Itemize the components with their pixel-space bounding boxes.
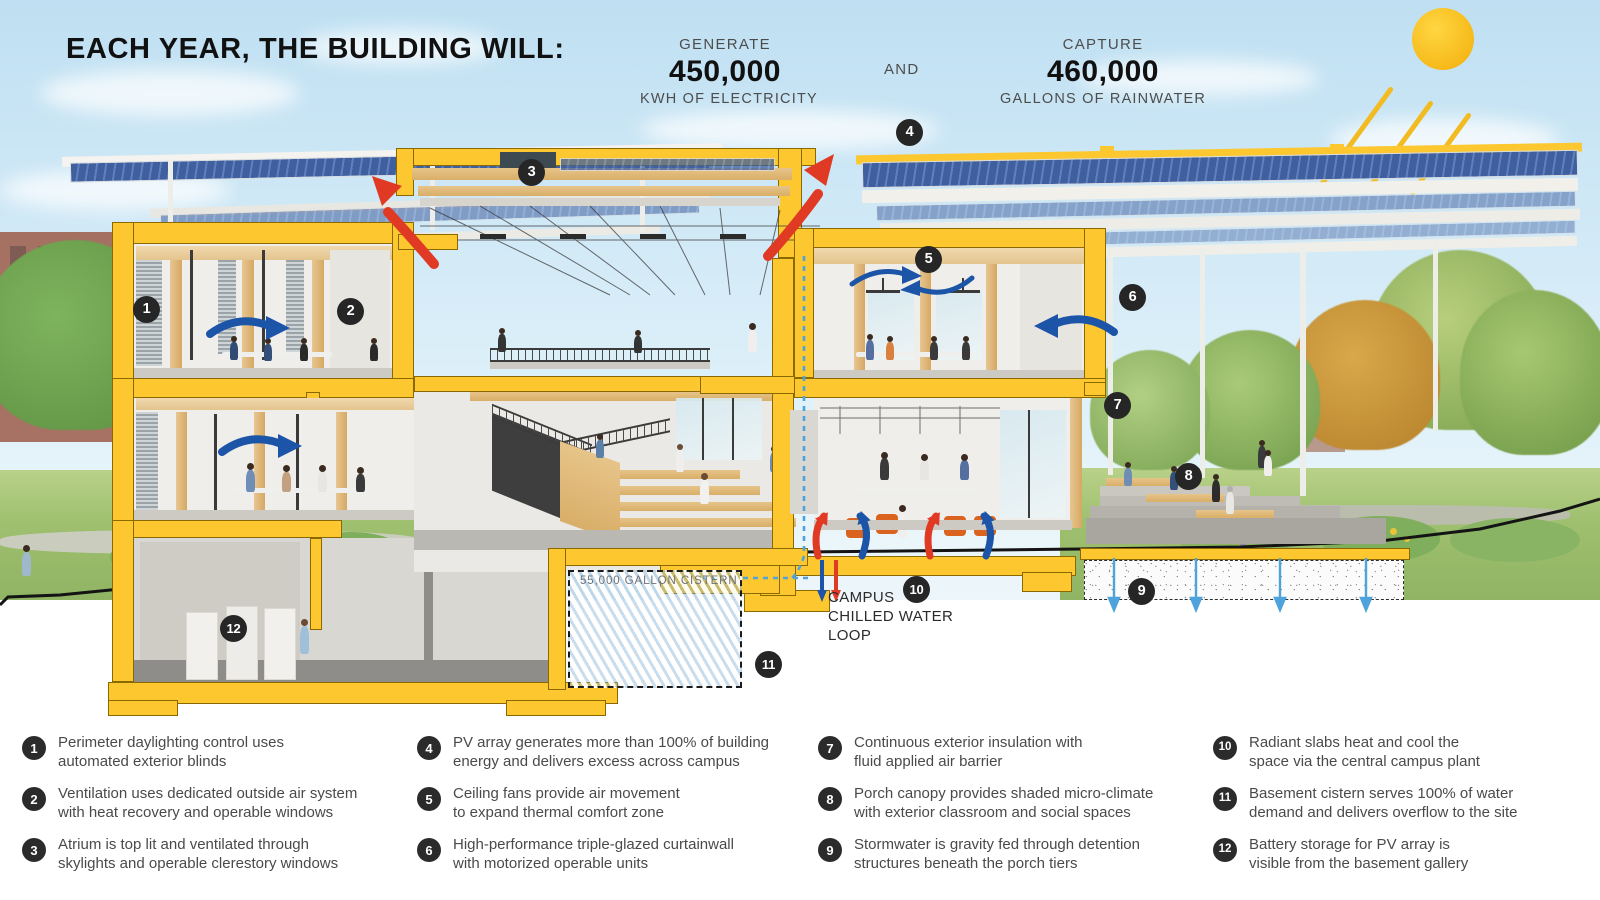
person-figure — [960, 460, 969, 480]
legend-text-12: Battery storage for PV array is visible … — [1249, 836, 1468, 872]
legend-item[interactable]: 11 Basement cistern serves 100% of water… — [1213, 785, 1593, 822]
window-mullion — [702, 398, 704, 460]
person-figure — [1226, 492, 1234, 514]
legend-badge-6: 6 — [417, 838, 441, 862]
tiered-seating-step — [600, 470, 740, 479]
structure-beam-yellow — [1084, 382, 1106, 396]
page-title: EACH YEAR, THE BUILDING WILL: — [66, 33, 565, 66]
wood-column — [176, 412, 187, 516]
person-figure — [930, 342, 938, 360]
legend-badge-7: 7 — [818, 736, 842, 760]
person-figure — [371, 338, 377, 344]
person-figure — [962, 342, 970, 360]
legend-text-3: Atrium is top lit and ventilated through… — [58, 836, 338, 872]
callout-badge-5[interactable]: 5 — [915, 246, 942, 273]
person-figure — [264, 344, 272, 361]
legend-text-9: Stormwater is gravity fed through detent… — [854, 836, 1140, 872]
person-figure — [748, 330, 757, 352]
structure-column-yellow — [112, 520, 134, 682]
legend: 1 Perimeter daylighting control uses aut… — [0, 726, 1600, 900]
wood-column — [336, 412, 347, 516]
stat-value: 460,000 — [1000, 53, 1206, 91]
legend-text-7: Continuous exterior insulation with flui… — [854, 734, 1082, 770]
tiered-seating-step — [600, 502, 778, 511]
stat-caption: CAPTURE — [1000, 36, 1206, 53]
canopy-tab — [1330, 144, 1344, 151]
legend-item[interactable]: 7 Continuous exterior insulation with fl… — [818, 734, 1203, 771]
ventilation-arrow-right — [1024, 308, 1120, 342]
person-figure — [963, 336, 969, 342]
roof-wood-beam — [418, 186, 790, 196]
person-figure — [1265, 450, 1271, 456]
person-figure — [282, 472, 291, 492]
callout-badge-7[interactable]: 7 — [1104, 392, 1131, 419]
porch-column — [1108, 250, 1113, 475]
porch-column — [1200, 248, 1205, 478]
tree — [1460, 290, 1600, 455]
structure-beam-yellow — [112, 222, 412, 244]
person-figure — [887, 336, 893, 342]
ventilation-arrow-level2 — [204, 310, 294, 344]
stat-caption: GENERATE — [640, 36, 810, 53]
window-mullion — [190, 250, 193, 360]
person-figure — [931, 336, 937, 342]
structure-column-yellow — [310, 538, 322, 630]
legend-item[interactable]: 4 PV array generates more than 100% of b… — [417, 734, 802, 771]
legend-column-3: 7 Continuous exterior insulation with fl… — [818, 734, 1203, 887]
legend-badge-3: 3 — [22, 838, 46, 862]
callout-badge-1[interactable]: 1 — [133, 296, 160, 323]
person-figure — [749, 323, 756, 330]
foundation-footing — [1022, 572, 1072, 592]
entry-glazing — [676, 398, 762, 460]
structure-column-yellow — [548, 548, 566, 690]
person-figure — [880, 458, 889, 480]
person-figure — [886, 342, 894, 360]
stat-capture: CAPTURE 460,000 GALLONS OF RAINWATER — [1000, 36, 1206, 107]
person-figure — [676, 450, 684, 472]
person-figure — [635, 330, 641, 336]
foundation-footing — [108, 700, 178, 716]
person-figure — [230, 342, 238, 360]
legend-text-6: High-performance triple-glazed curtainwa… — [453, 836, 734, 872]
stat-generate: GENERATE 450,000 KWH OF ELECTRICITY — [640, 36, 810, 107]
person-figure — [357, 467, 364, 474]
person-figure — [597, 434, 603, 440]
bridge-deck — [490, 362, 710, 369]
wood-column — [170, 248, 182, 370]
structure-beam-yellow — [112, 378, 414, 398]
legend-item[interactable]: 12 Battery storage for PV array is visib… — [1213, 836, 1593, 873]
legend-column-2: 4 PV array generates more than 100% of b… — [417, 734, 802, 887]
person-figure — [499, 328, 505, 334]
person-figure — [867, 334, 873, 340]
basement-column — [424, 570, 433, 664]
legend-item[interactable]: 6 High-performance triple-glazed curtain… — [417, 836, 802, 873]
legend-text-2: Ventilation uses dedicated outside air s… — [58, 785, 357, 821]
legend-item[interactable]: 8 Porch canopy provides shaded micro-cli… — [818, 785, 1203, 822]
pv-array-panels — [560, 158, 775, 171]
person-figure — [1213, 474, 1219, 480]
callout-badge-12[interactable]: 12 — [220, 615, 247, 642]
callout-badge-11[interactable]: 11 — [755, 651, 782, 678]
legend-badge-12: 12 — [1213, 838, 1237, 862]
legend-item[interactable]: 3 Atrium is top lit and ventilated throu… — [22, 836, 412, 873]
structure-column-yellow — [112, 222, 134, 382]
person-figure — [920, 460, 929, 480]
legend-item[interactable]: 9 Stormwater is gravity fed through dete… — [818, 836, 1203, 873]
porch-bench — [1196, 510, 1274, 518]
legend-text-5: Ceiling fans provide air movement to exp… — [453, 785, 680, 821]
structure-slab-yellow — [548, 548, 808, 566]
legend-badge-4: 4 — [417, 736, 441, 760]
person-figure — [1259, 440, 1265, 446]
atrium-floor — [414, 530, 794, 550]
stat-unit: GALLONS OF RAINWATER — [1000, 91, 1206, 107]
person-figure — [318, 472, 327, 492]
porch-column — [1433, 240, 1438, 430]
ceiling-fan-circulation-arrows — [842, 262, 982, 298]
person-figure — [301, 338, 307, 344]
cloud — [40, 70, 300, 116]
building-section-illustration: 55,000 GALLON CISTERN CAMPUS CHILLED WAT… — [0, 0, 1600, 730]
person-figure — [1212, 480, 1220, 502]
legend-item[interactable]: 10 Radiant slabs heat and cool the space… — [1213, 734, 1593, 771]
callout-badge-10[interactable]: 10 — [903, 576, 930, 603]
porch-paving — [1086, 518, 1386, 544]
legend-item[interactable]: 1 Perimeter daylighting control uses aut… — [22, 734, 412, 771]
floor-plate — [134, 368, 392, 378]
person-figure — [677, 444, 683, 450]
curtainwall-glazing — [936, 290, 982, 360]
person-figure — [634, 336, 642, 353]
wood-column — [986, 264, 997, 372]
legend-item[interactable]: 5 Ceiling fans provide air movement to e… — [417, 785, 802, 822]
sun-icon — [1412, 8, 1474, 70]
legend-badge-5: 5 — [417, 787, 441, 811]
battery-unit — [186, 612, 218, 680]
person-figure — [300, 626, 309, 654]
campus-chilled-water-loop-label: CAMPUS CHILLED WATER LOOP — [828, 588, 953, 645]
structure-column-yellow — [112, 378, 134, 528]
callout-badge-8[interactable]: 8 — [1175, 463, 1202, 490]
person-figure — [1124, 468, 1132, 486]
person-figure — [498, 334, 506, 352]
canopy-tab — [1100, 146, 1114, 153]
stack-effect-arrow-left — [368, 160, 458, 270]
foundation-footing — [506, 700, 606, 716]
legend-text-8: Porch canopy provides shaded micro-clima… — [854, 785, 1153, 821]
legend-text-4: PV array generates more than 100% of bui… — [453, 734, 769, 770]
cistern-label: 55,000 GALLON CISTERN — [580, 575, 738, 587]
person-figure — [866, 340, 874, 360]
radiant-slab-arrows — [800, 498, 1040, 560]
legend-column-4: 10 Radiant slabs heat and cool the space… — [1213, 734, 1593, 887]
person-figure — [596, 440, 604, 458]
battery-unit — [264, 608, 296, 680]
stat-value: 450,000 — [640, 53, 810, 91]
legend-text-10: Radiant slabs heat and cool the space vi… — [1249, 734, 1480, 770]
furniture-table — [222, 352, 332, 357]
exterior-blinds — [136, 412, 158, 510]
callout-badge-2[interactable]: 2 — [337, 298, 364, 325]
callout-badge-6[interactable]: 6 — [1119, 284, 1146, 311]
cistern — [568, 570, 742, 688]
tiered-seating-step — [600, 486, 760, 495]
callout-badge-3[interactable]: 3 — [518, 159, 545, 186]
stat-conjunction: AND — [884, 61, 920, 78]
person-figure — [283, 465, 290, 472]
stat-unit: KWH OF ELECTRICITY — [640, 91, 810, 107]
legend-text-11: Basement cistern serves 100% of water de… — [1249, 785, 1517, 821]
window-mullion — [732, 398, 734, 460]
legend-text-1: Perimeter daylighting control uses autom… — [58, 734, 284, 770]
person-figure — [701, 473, 708, 480]
bridge-railing[interactable] — [490, 348, 710, 362]
legend-badge-10: 10 — [1213, 736, 1237, 760]
ventilation-arrow-level1 — [216, 428, 306, 462]
infographic-page: 55,000 GALLON CISTERN CAMPUS CHILLED WAT… — [0, 0, 1600, 900]
person-figure — [247, 463, 254, 470]
person-figure — [356, 474, 365, 492]
legend-badge-8: 8 — [818, 787, 842, 811]
person-figure — [370, 344, 378, 361]
legend-badge-1: 1 — [22, 736, 46, 760]
person-figure — [300, 344, 308, 361]
structure-beam-yellow — [112, 520, 342, 538]
porch-column — [1300, 246, 1306, 496]
person-figure — [1227, 486, 1233, 492]
callout-badge-4[interactable]: 4 — [896, 119, 923, 146]
person-figure — [246, 470, 255, 492]
legend-badge-9: 9 — [818, 838, 842, 862]
stack-effect-arrow-right — [748, 146, 848, 262]
legend-item[interactable]: 2 Ventilation uses dedicated outside air… — [22, 785, 412, 822]
legend-badge-11: 11 — [1213, 787, 1237, 811]
person-figure — [700, 480, 709, 504]
person-figure — [881, 452, 888, 459]
callout-badge-9[interactable]: 9 — [1128, 578, 1155, 605]
furniture-table — [856, 488, 976, 493]
person-figure — [301, 619, 308, 626]
person-figure — [1125, 462, 1131, 468]
tiered-seating-step — [600, 518, 796, 527]
legend-badge-2: 2 — [22, 787, 46, 811]
person-figure — [319, 465, 326, 472]
person-figure — [961, 454, 968, 461]
person-figure — [921, 454, 928, 461]
canopy-post — [168, 160, 173, 222]
person-figure — [1264, 456, 1272, 476]
wood-column — [1070, 398, 1082, 528]
legend-column-1: 1 Perimeter daylighting control uses aut… — [22, 734, 412, 887]
